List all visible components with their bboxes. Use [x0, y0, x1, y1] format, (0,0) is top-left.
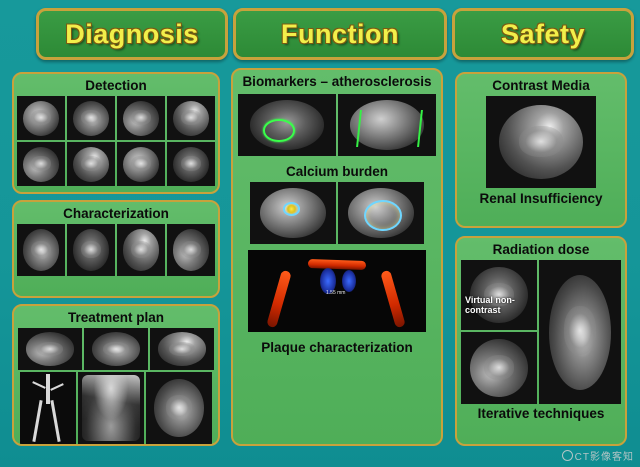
ct-tile: [117, 142, 165, 186]
watermark: CT影像客知: [562, 448, 634, 463]
panel-detection: Detection: [12, 72, 220, 194]
panel-radiation-dose: Radiation dose Virtual non-contrast Iter…: [455, 236, 627, 446]
detection-image-row-2: [14, 142, 218, 186]
panel-biomarkers-title: Biomarkers – atherosclerosis: [233, 70, 441, 92]
panel-renal-insufficiency-footer: Renal Insufficiency: [457, 188, 625, 210]
plaque-measurement-label: 1.55 mm: [326, 290, 345, 296]
panel-function-content: Biomarkers – atherosclerosis Calcium bur…: [231, 68, 443, 446]
ct-tile: [146, 372, 212, 444]
circle-logo-icon: [562, 450, 573, 461]
plaque-volume-rendering: 1.55 mm: [248, 250, 426, 332]
ct-tile: [67, 142, 115, 186]
ct-tile: [18, 328, 82, 370]
ct-tile: [17, 224, 65, 276]
ct-tile: [17, 142, 65, 186]
plaque-image-row: 1.55 mm: [233, 250, 441, 332]
ct-tile: [117, 224, 165, 276]
virtual-non-contrast-label: Virtual non-contrast: [465, 296, 531, 316]
panel-contrast-media-title: Contrast Media: [457, 74, 625, 96]
banner-diagnosis-label: Diagnosis: [65, 19, 199, 50]
banner-function-label: Function: [281, 19, 399, 50]
panel-radiation-dose-title: Radiation dose: [457, 238, 625, 260]
virtual-non-contrast-group: Virtual non-contrast: [461, 260, 537, 404]
calcium-image-row: [233, 182, 441, 244]
biomarkers-image-row: [233, 94, 441, 156]
ct-tile: [67, 96, 115, 140]
panel-plaque-characterization-footer: Plaque characterization: [233, 332, 441, 359]
panel-characterization-title: Characterization: [14, 202, 218, 224]
banner-diagnosis: Diagnosis: [36, 8, 228, 60]
panel-iterative-techniques-footer: Iterative techniques: [457, 404, 625, 425]
ct-tile-green-vessel: [338, 94, 436, 156]
panel-treatment-plan-title: Treatment plan: [14, 306, 218, 328]
panel-contrast-media: Contrast Media Renal Insufficiency: [455, 72, 627, 228]
ct-tile: [84, 328, 148, 370]
ct-tile: [167, 224, 215, 276]
ct-tile: [167, 96, 215, 140]
ct-tile: [150, 328, 214, 370]
banner-safety: Safety: [452, 8, 634, 60]
ct-tile-virtual-non-contrast-bottom: [461, 332, 537, 404]
ct-tile: [17, 96, 65, 140]
watermark-text: CT影像客知: [575, 452, 634, 463]
ct-tile: [117, 96, 165, 140]
treatment-image-row-1: [14, 328, 218, 370]
ct-tile: [167, 142, 215, 186]
ct-tile-calcium-left: [250, 182, 336, 244]
contrast-media-image-row: [457, 96, 625, 188]
characterization-image-row: [14, 224, 218, 276]
ct-tile: [67, 224, 115, 276]
panel-treatment-plan: Treatment plan: [12, 304, 220, 446]
banner-function: Function: [233, 8, 447, 60]
banner-safety-label: Safety: [501, 19, 585, 50]
treatment-image-row-2: [14, 372, 218, 444]
ct-tile-green-roi: [238, 94, 336, 156]
ct-tile-calcium-right: [338, 182, 424, 244]
panel-characterization: Characterization: [12, 200, 220, 298]
panel-calcium-burden-title: Calcium burden: [233, 156, 441, 182]
slide-canvas: Diagnosis Function Safety Detection Char…: [0, 0, 640, 467]
detection-image-row-1: [14, 96, 218, 140]
ct-tile-abdomen: [486, 96, 596, 188]
mip-angiogram-tile: [20, 372, 76, 444]
ct-tile: [78, 372, 144, 444]
ct-tile-coronal-body: [539, 260, 621, 404]
radiation-dose-image-row: Virtual non-contrast: [457, 260, 625, 404]
panel-detection-title: Detection: [14, 74, 218, 96]
